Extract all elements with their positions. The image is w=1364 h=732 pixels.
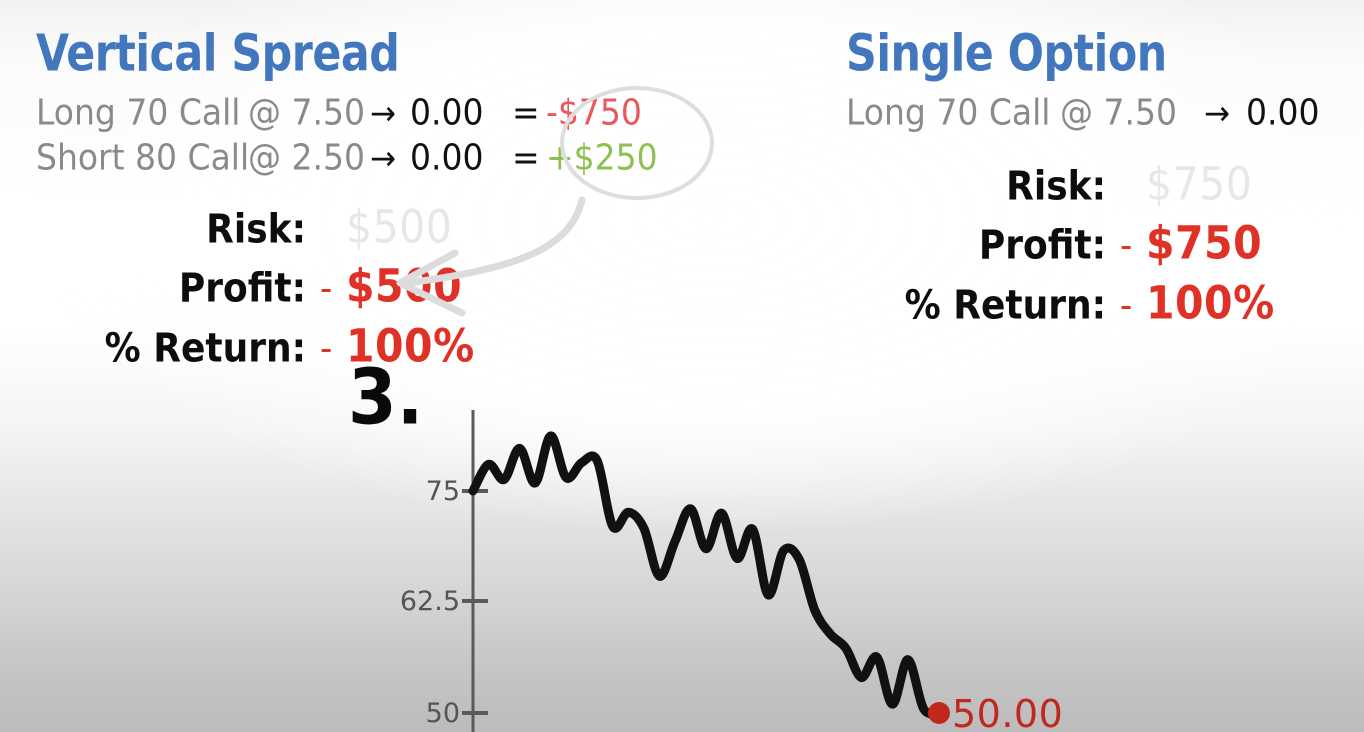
y-axis-tick-label: 62.5 <box>340 586 460 617</box>
y-axis-tick-label: 75 <box>360 476 460 507</box>
y-axis-tick-label: 50 <box>360 698 460 729</box>
price-line <box>473 436 939 714</box>
last-price-dot-icon <box>928 702 950 724</box>
price-chart <box>0 0 1364 732</box>
whiteboard-canvas: Vertical Spread Long 70 Call @ 7.50 → 0.… <box>0 0 1364 732</box>
last-price-label: 50.00 <box>952 692 1063 732</box>
